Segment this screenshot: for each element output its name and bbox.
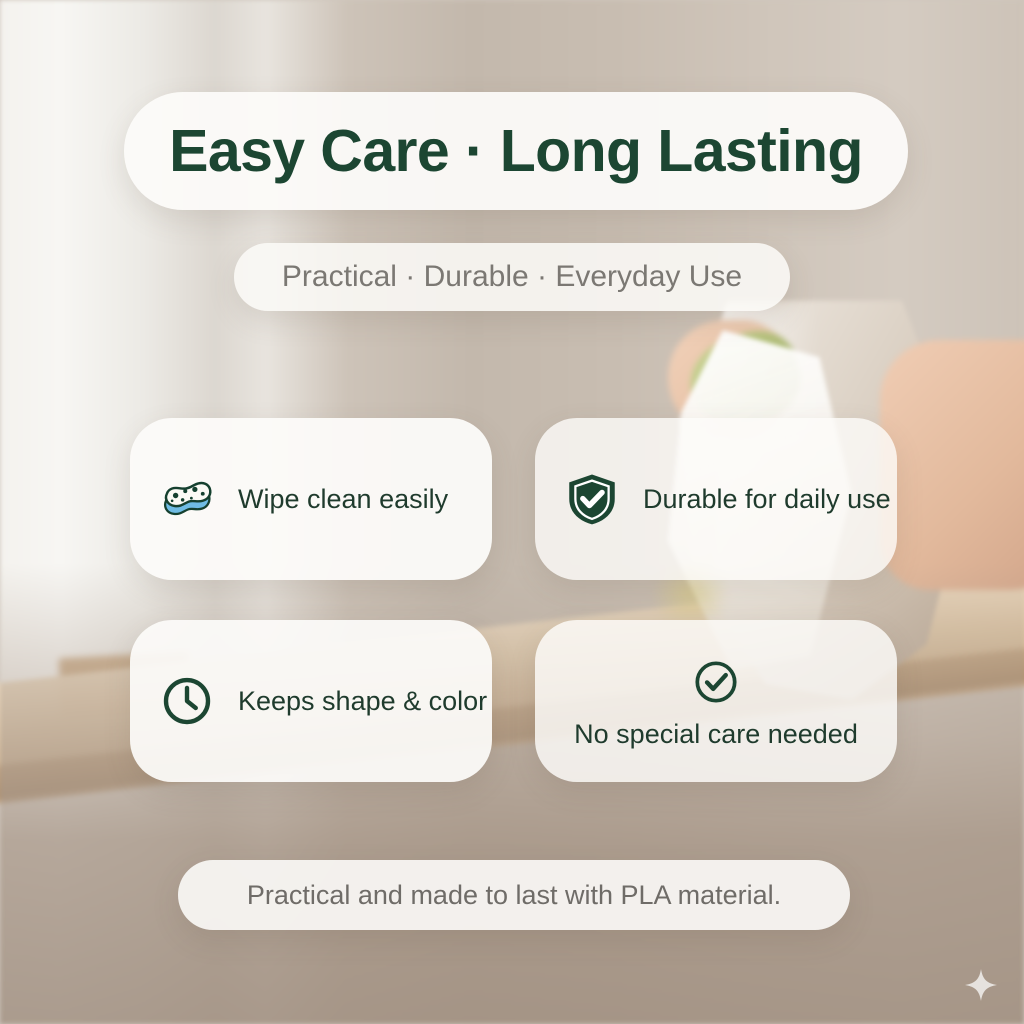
feature-label: No special care needed [574, 719, 858, 750]
feature-card-durable[interactable]: Durable for daily use [535, 418, 897, 580]
feature-card-wipe-clean[interactable]: Wipe clean easily [130, 418, 492, 580]
feature-label: Keeps shape & color [238, 686, 487, 717]
feature-label: Wipe clean easily [238, 484, 448, 515]
page-subtitle: Practical · Durable · Everyday Use [282, 260, 742, 294]
check-circle-icon [687, 653, 745, 711]
feature-card-no-special-care[interactable]: No special care needed [535, 620, 897, 782]
feature-label: Durable for daily use [643, 484, 891, 515]
page-title: Easy Care · Long Lasting [169, 117, 863, 185]
promo-graphic: Easy Care · Long Lasting Practical · Dur… [0, 0, 1024, 1024]
footer-text: Practical and made to last with PLA mate… [247, 880, 781, 911]
footer-card: Practical and made to last with PLA mate… [178, 860, 850, 930]
subtitle-card: Practical · Durable · Everyday Use [234, 243, 790, 311]
feature-card-keeps-shape[interactable]: Keeps shape & color [130, 620, 492, 782]
sponge-icon [158, 470, 216, 528]
sparkle-icon [964, 968, 998, 1002]
title-card: Easy Care · Long Lasting [124, 92, 908, 210]
shield-check-icon [563, 470, 621, 528]
clock-icon [158, 672, 216, 730]
